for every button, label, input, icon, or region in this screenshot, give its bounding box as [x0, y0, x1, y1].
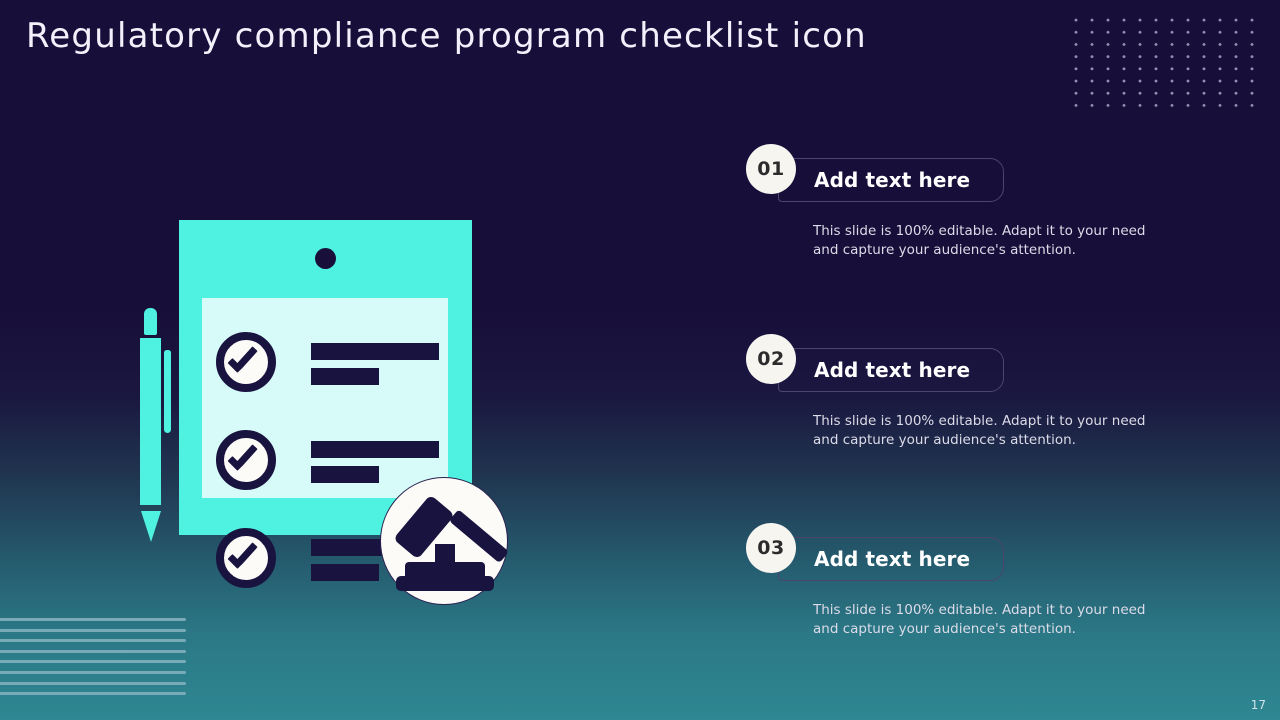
- decor-line: [0, 671, 186, 674]
- checklist-row: [216, 332, 441, 394]
- decor-line: [0, 639, 186, 642]
- decor-line: [0, 682, 186, 685]
- gavel-base-bottom: [396, 576, 494, 591]
- item-heading-label: Add text here: [779, 168, 970, 192]
- pen-tip: [141, 511, 161, 542]
- pen-icon: [132, 308, 168, 558]
- gavel-icon: [380, 477, 508, 605]
- item-heading-box[interactable]: Add text here: [778, 158, 1004, 202]
- text-bar-short: [311, 466, 379, 483]
- decor-line: [0, 629, 186, 632]
- item-description: This slide is 100% editable. Adapt it to…: [813, 412, 1165, 449]
- item-number-badge: 02: [746, 334, 796, 384]
- slide-canvas: Regulatory compliance program checklist …: [0, 0, 1280, 720]
- item-number-badge: 03: [746, 523, 796, 573]
- item-number-badge: 01: [746, 144, 796, 194]
- text-bar-short: [311, 368, 379, 385]
- decor-line: [0, 660, 186, 663]
- checkmark-icon: [230, 547, 258, 561]
- checkmark-icon: [230, 351, 258, 365]
- checklist-row: [216, 430, 441, 492]
- item-description: This slide is 100% editable. Adapt it to…: [813, 601, 1165, 638]
- item-heading-label: Add text here: [779, 547, 970, 571]
- clipboard-checklist-illustration: [120, 165, 520, 585]
- decor-line: [0, 650, 186, 653]
- content-item-03[interactable]: 03 Add text here This slide is 100% edit…: [746, 523, 1176, 653]
- item-heading-label: Add text here: [779, 358, 970, 382]
- pen-body: [140, 338, 161, 505]
- text-bar-short: [311, 564, 379, 581]
- pen-knob: [144, 308, 157, 335]
- item-description: This slide is 100% editable. Adapt it to…: [813, 222, 1165, 259]
- page-title: Regulatory compliance program checklist …: [26, 16, 867, 56]
- gavel-handle: [449, 509, 509, 563]
- text-bar-long: [311, 441, 439, 458]
- horizontal-lines-icon: [0, 618, 187, 698]
- dot-grid-icon: [1068, 14, 1264, 114]
- page-number: 17: [1251, 698, 1266, 712]
- clipboard-clip-hole: [315, 248, 336, 269]
- content-item-01[interactable]: 01 Add text here This slide is 100% edit…: [746, 144, 1176, 274]
- content-item-02[interactable]: 02 Add text here This slide is 100% edit…: [746, 334, 1176, 464]
- text-bar-long: [311, 343, 439, 360]
- decor-line: [0, 618, 186, 621]
- item-heading-box[interactable]: Add text here: [778, 348, 1004, 392]
- item-heading-box[interactable]: Add text here: [778, 537, 1004, 581]
- decor-line: [0, 692, 186, 695]
- checkmark-icon: [230, 449, 258, 463]
- pen-clip: [164, 350, 171, 433]
